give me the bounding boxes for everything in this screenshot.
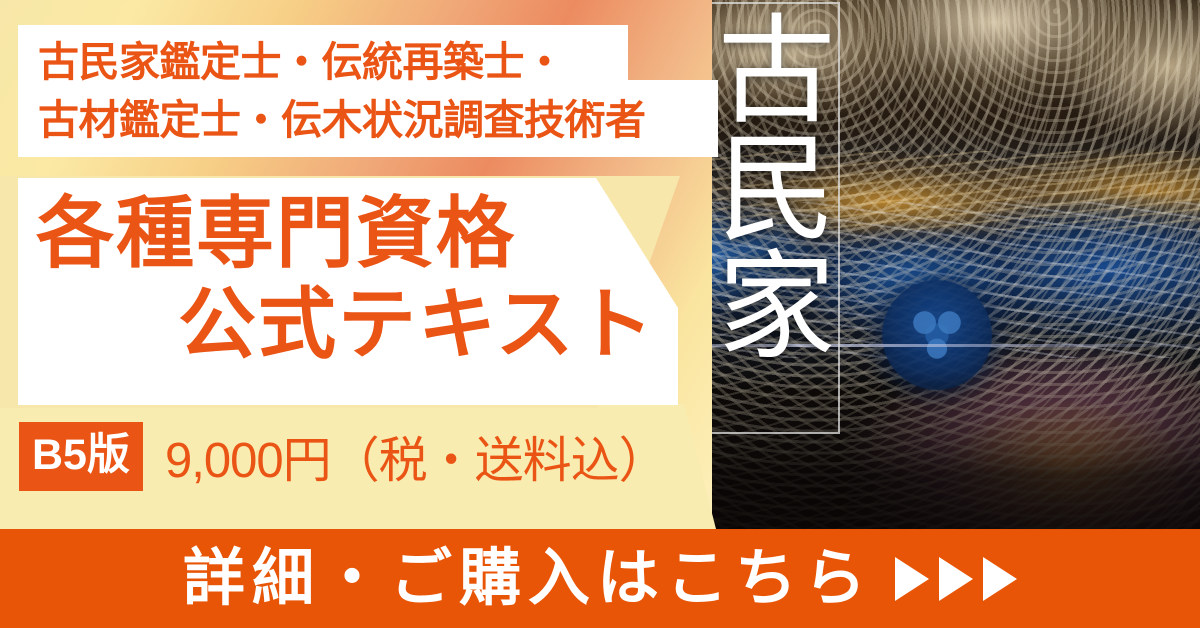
cta-bar[interactable]: 詳細・ご購入はこちら bbox=[0, 529, 1200, 628]
qualifications-panel: 古民家鑑定士・伝統再築士・ 古材鑑定士・伝木状況調査技術者 bbox=[18, 25, 718, 157]
price-amount: 9,000円（税・送料込） bbox=[165, 421, 667, 492]
book-title-vertical: 古民家 bbox=[693, 8, 833, 428]
cta-label: 詳細・ご購入はこちら bbox=[183, 548, 873, 610]
qualifications-text: 古民家鑑定士・伝統再築士・ 古材鑑定士・伝木状況調査技術者 bbox=[38, 33, 646, 149]
triangle-right-icon bbox=[895, 557, 929, 601]
size-badge: B5版 bbox=[19, 422, 143, 491]
headline-panel: 各種専門資格 公式テキスト bbox=[18, 178, 678, 405]
price-row: B5版 9,000円（税・送料込） bbox=[19, 421, 667, 491]
headline-line-1: 各種専門資格 bbox=[36, 192, 516, 275]
cta-arrows bbox=[895, 557, 1017, 601]
triangle-right-icon bbox=[983, 557, 1017, 601]
promo-banner: 古民家 伝統構法 古民家活用のための調査と再生の 古民家鑑定士・伝統再築士・ 古… bbox=[0, 0, 1200, 628]
triangle-right-icon bbox=[939, 557, 973, 601]
headline-line-2: 公式テキスト bbox=[178, 283, 656, 366]
